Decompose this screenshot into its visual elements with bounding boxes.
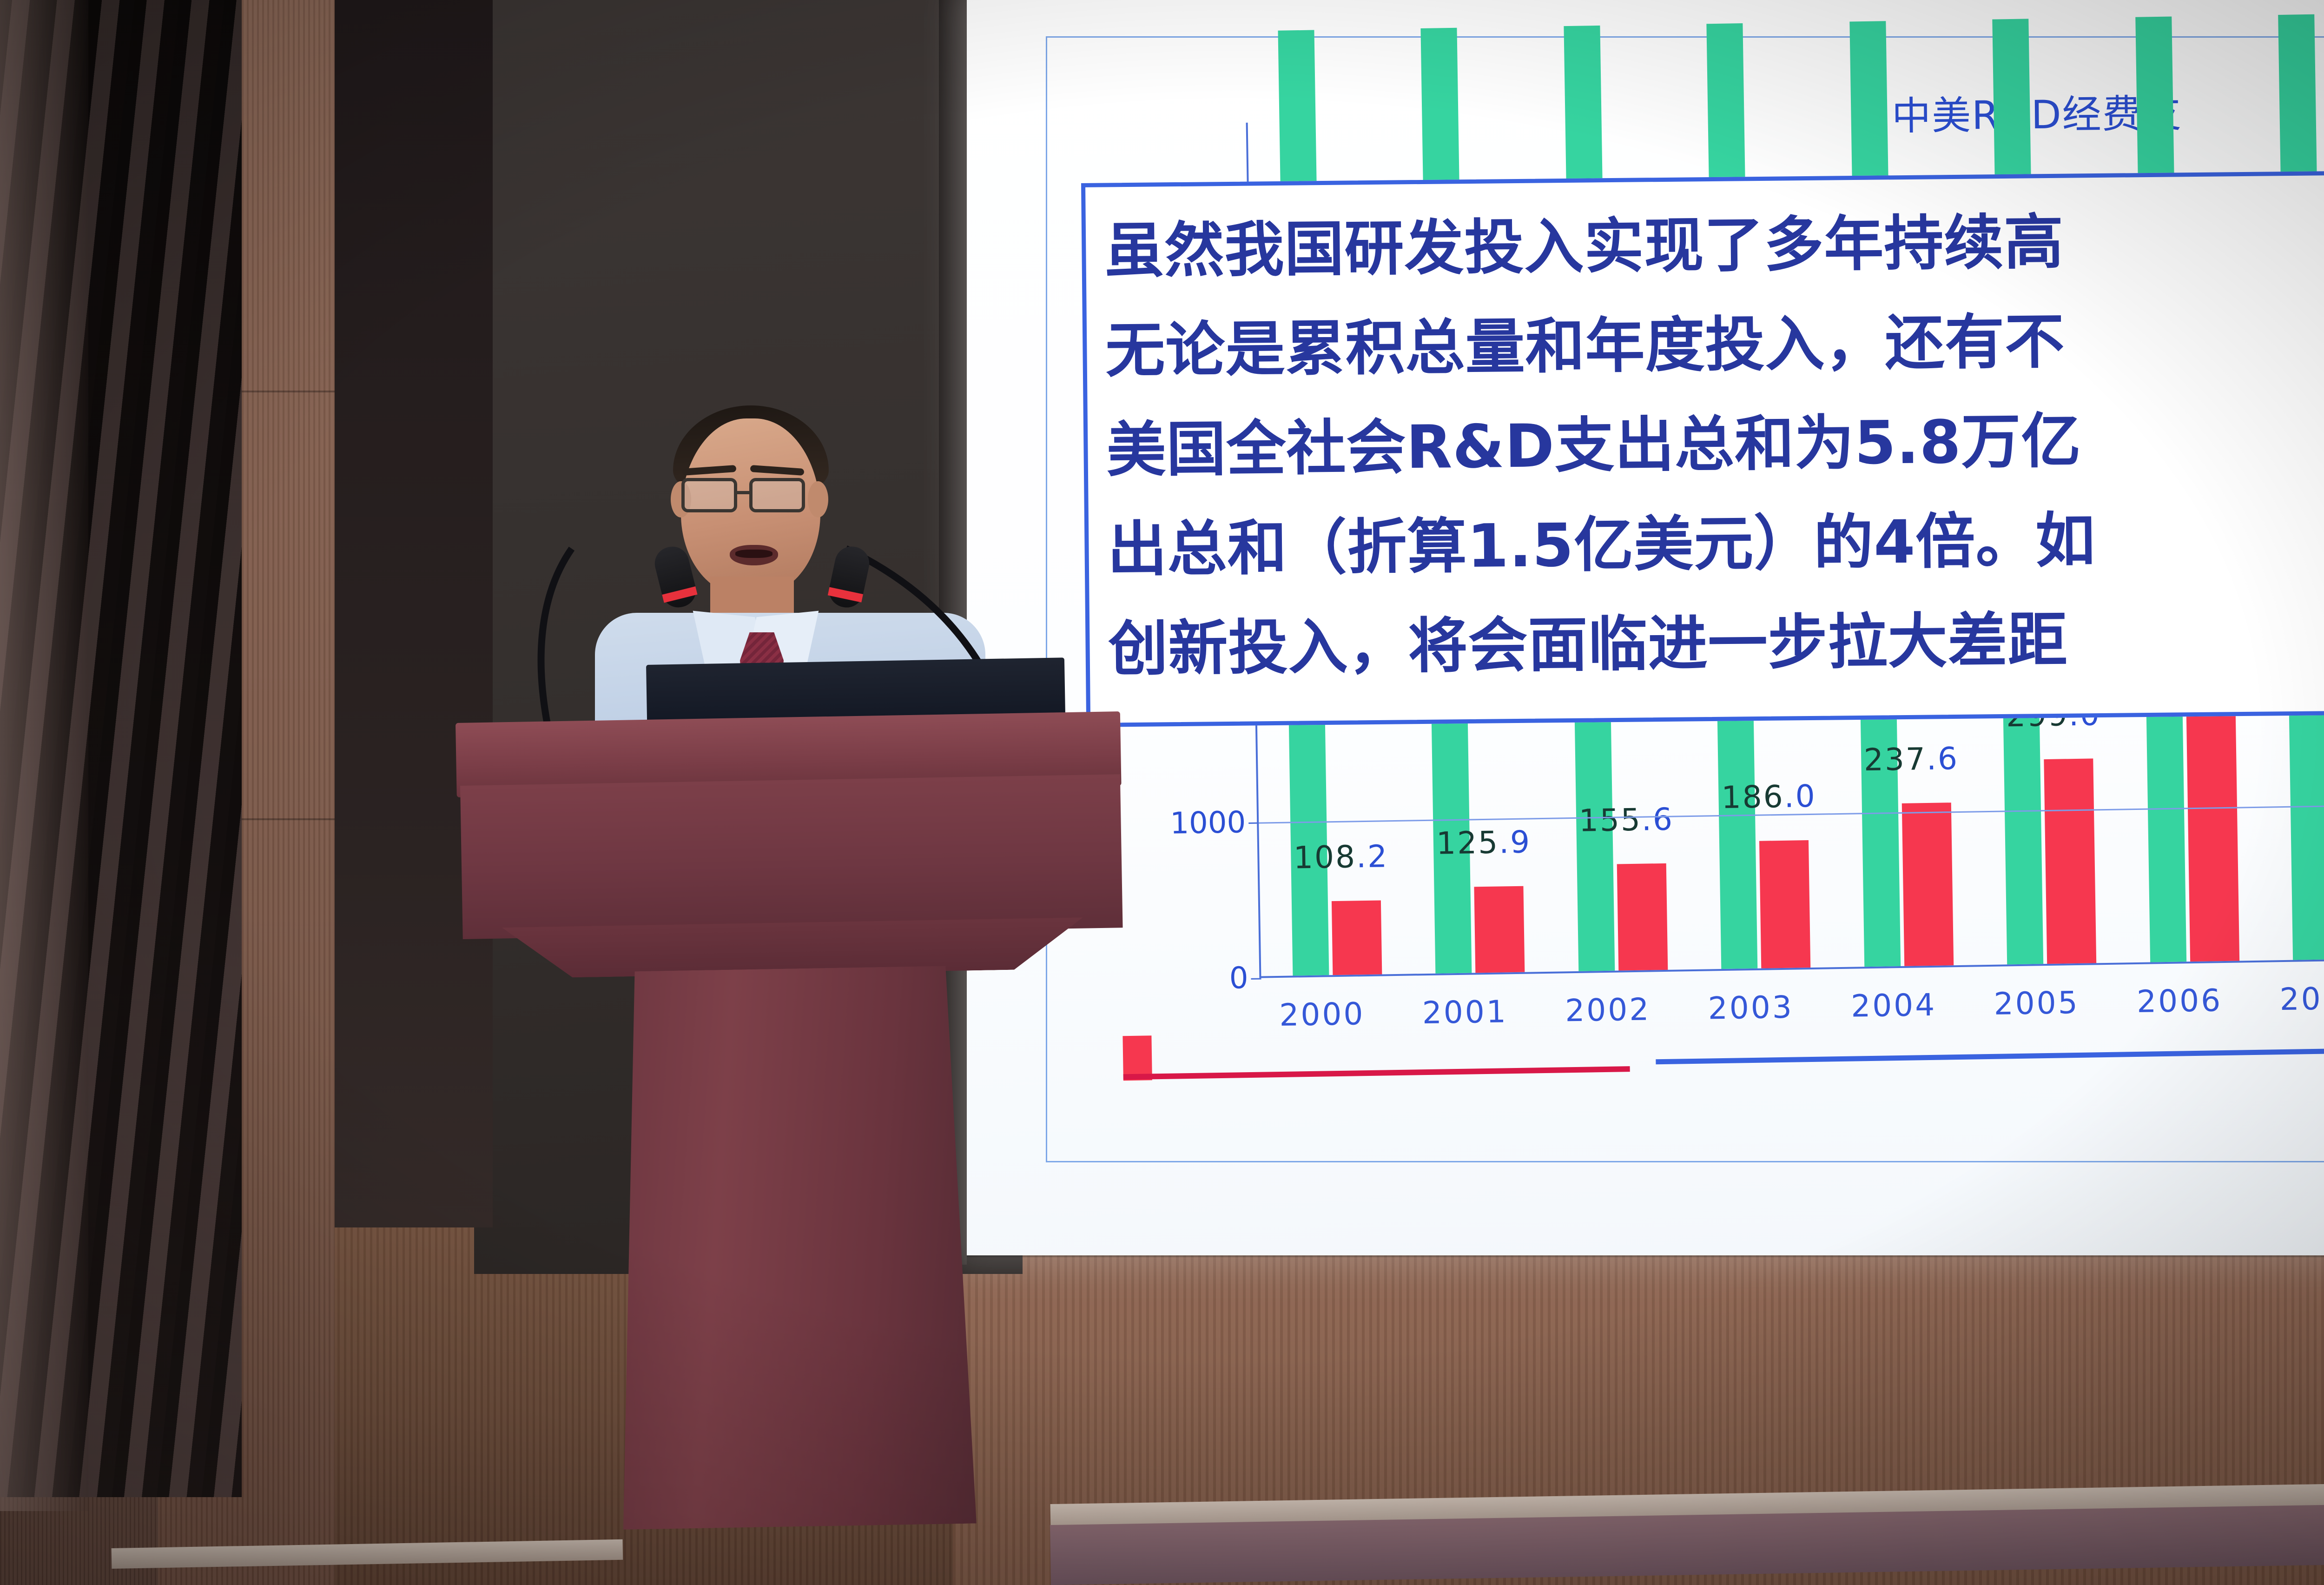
bar-series-china — [1759, 840, 1810, 968]
overlay-text-line: 出总和（折算1.5亿美元）的4倍。如 — [1107, 492, 2096, 587]
chart-y-tick-label: 0 — [1229, 961, 1248, 996]
mic-indicator-ring-right — [828, 587, 863, 603]
bar-series-china — [1617, 863, 1668, 971]
chart-data-label: 237.6 — [1863, 741, 1959, 778]
chart-y-tick-mark — [1248, 822, 1259, 824]
overlay-text-line: 美国全社会R&D支出总和为5.8万亿 — [1106, 392, 2082, 488]
eyeglasses-lens-left — [681, 478, 737, 512]
bar-series-china — [1474, 886, 1525, 973]
podium-column — [614, 966, 977, 1530]
bar-series-china — [1332, 900, 1382, 975]
chart-x-tick-label: 2001 — [1422, 994, 1508, 1031]
chart-x-tick-label: 2005 — [1994, 985, 2080, 1022]
chart-x-tick-label: 2006 — [2137, 982, 2223, 1020]
chart-x-tick-label: 2000 — [1279, 996, 1365, 1033]
legend-rule-blue — [1656, 1048, 2324, 1064]
chart-data-label: 155.6 — [1578, 802, 1674, 839]
podium-front — [460, 774, 1123, 939]
chart-y-tick-label: 1000 — [1170, 806, 1246, 842]
chart-x-tick-label: 2007 — [2279, 980, 2324, 1017]
chart-data-label: 125.9 — [1436, 824, 1532, 861]
chart-y-tick-mark — [1251, 978, 1261, 980]
projection-screen: 中美R&D经费支 108.22000125.92001155.62002186.… — [967, 0, 2324, 1255]
conference-photo-scene: 中美R&D经费支 108.22000125.92001155.62002186.… — [0, 0, 2324, 1585]
overlay-text-line: 虽然我国研发投入实现了多年持续高 — [1104, 194, 2064, 289]
eyeglasses-lens-right — [749, 478, 805, 512]
overlay-text-line: 创新投入，将会面临进一步拉大差距 — [1108, 592, 2068, 687]
slide-text-overlay: 虽然我国研发投入实现了多年持续高无论是累积总量和年度投入，还有不美国全社会R&D… — [1081, 170, 2324, 727]
eyeglasses-bridge — [736, 491, 751, 494]
stage-curtain-edge — [0, 0, 88, 1511]
mic-indicator-ring-left — [662, 586, 697, 603]
legend-rule-red — [1123, 1066, 1630, 1080]
bar-series-china — [1901, 802, 1953, 966]
bar-series-china — [2186, 703, 2239, 962]
bar-series-china — [2044, 758, 2096, 964]
chart-x-tick-label: 2003 — [1708, 989, 1794, 1027]
overlay-text-line: 无论是累积总量和年度投入，还有不 — [1105, 293, 2065, 389]
chart-x-tick-label: 2002 — [1565, 991, 1651, 1028]
wood-seam — [953, 1255, 2324, 1257]
chart-data-label: 186.0 — [1721, 778, 1816, 816]
chart-data-label: 108.2 — [1293, 838, 1388, 875]
speaker-ear-right — [808, 481, 828, 517]
chart-x-tick-label: 2004 — [1851, 987, 1937, 1024]
